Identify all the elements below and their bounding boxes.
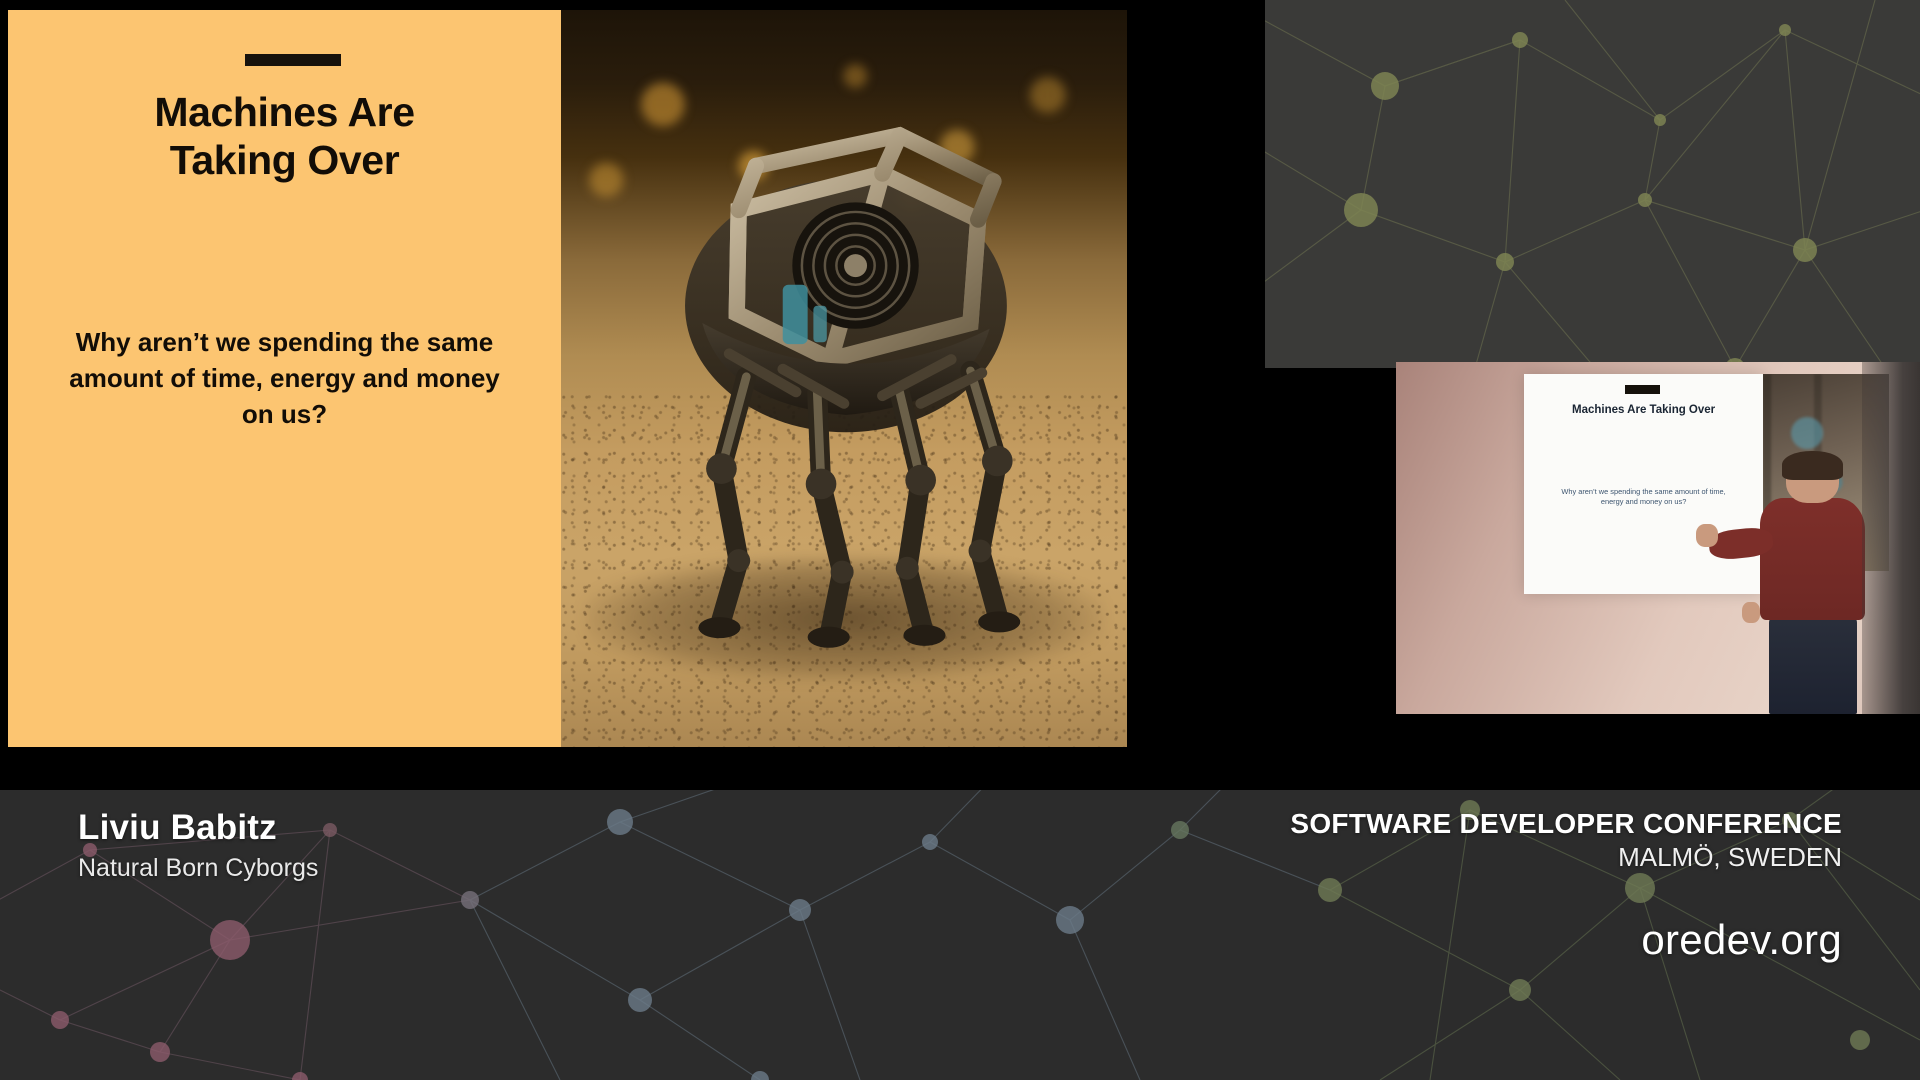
pip-slide-subtitle: Why aren’t we spending the same amount o…	[1524, 487, 1762, 508]
conference-location: MALMÖ, SWEDEN	[1290, 842, 1842, 873]
pip-right-wall-shadow	[1862, 362, 1920, 714]
slide-robot-photo	[561, 10, 1127, 747]
lower-third-footer: Liviu Babitz Natural Born Cyborgs SOFTWA…	[0, 790, 1920, 1080]
talk-title: Natural Born Cyborgs	[78, 854, 318, 883]
speaker-info: Liviu Babitz Natural Born Cyborgs	[78, 808, 318, 883]
robot-illustration	[595, 39, 1093, 688]
pip-slide-rule	[1625, 385, 1661, 394]
brand-panel	[1265, 0, 1920, 368]
pip-speaker-hand	[1696, 524, 1718, 547]
pip-speaker-figure	[1758, 454, 1868, 714]
slide-subtitle: Why aren’t we spending the same amount o…	[8, 325, 561, 433]
picture-in-picture-video[interactable]: Machines Are Taking Over Why aren’t we s…	[1396, 362, 1920, 714]
slide-title: Machines Are Taking Over	[8, 88, 561, 185]
slide-title-rule	[245, 54, 341, 66]
conference-info: SOFTWARE DEVELOPER CONFERENCE MALMÖ, SWE…	[1290, 808, 1842, 873]
pip-projected-slide: Machines Are Taking Over Why aren’t we s…	[1524, 374, 1762, 594]
pip-speaker-hand-lower	[1742, 602, 1760, 623]
broadcast-stage: Machines Are Taking Over Why aren’t we s…	[0, 0, 1920, 1080]
presentation-slide: Machines Are Taking Over Why aren’t we s…	[8, 10, 1127, 747]
pip-slide-title: Machines Are Taking Over	[1524, 403, 1762, 419]
slide-text-panel: Machines Are Taking Over Why aren’t we s…	[8, 10, 561, 747]
conference-url[interactable]: oredev.org	[1641, 916, 1842, 964]
speaker-name: Liviu Babitz	[78, 808, 318, 848]
divider-band	[0, 757, 1920, 790]
pip-speaker-legs	[1769, 615, 1857, 714]
conference-name: SOFTWARE DEVELOPER CONFERENCE	[1290, 808, 1842, 840]
pip-speaker-hair	[1782, 451, 1844, 480]
network-pattern-olive	[1265, 0, 1920, 368]
main-slide-frame: Machines Are Taking Over Why aren’t we s…	[0, 0, 1135, 757]
pip-speaker-torso	[1760, 498, 1866, 620]
